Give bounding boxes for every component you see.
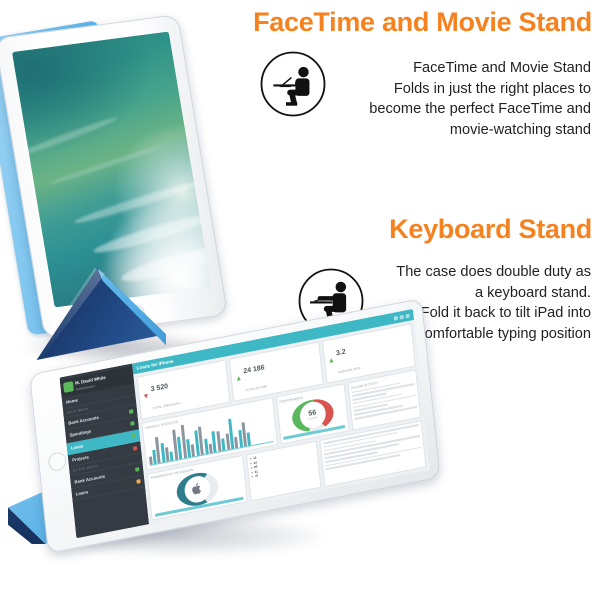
avatar — [63, 381, 74, 393]
kpi-value: 3.2 — [336, 348, 346, 357]
status-badge — [130, 421, 134, 426]
arrow-up-icon: ▲ — [328, 357, 336, 365]
product-feature-image: FaceTime and Movie Stand FaceTime and Mo… — [0, 0, 600, 600]
status-badge — [135, 467, 139, 472]
ipad-wallpaper-screen — [12, 31, 211, 307]
arrow-up-icon: ▲ — [235, 375, 243, 383]
status-badge — [136, 479, 140, 484]
kpi-label: TOTAL SPENDINGS — [153, 401, 181, 410]
kpi-label: AVERAGE RATE — [338, 365, 361, 373]
home-button — [48, 451, 68, 472]
feature-title-facetime: FaceTime and Movie Stand — [253, 8, 592, 36]
ipad-movie-stand-photo — [0, 0, 260, 380]
feature-body-facetime: FaceTime and Movie Stand Folds in just t… — [351, 58, 591, 141]
feature-title-keyboard: Keyboard Stand — [389, 215, 592, 243]
status-badge — [133, 446, 137, 451]
kpi-label: TOTAL INCOME — [245, 384, 267, 392]
ipad-keyboard-stand-photo: M. David White Administrator Home MAIN M… — [0, 370, 470, 600]
kpi-value: 3 520 — [150, 383, 168, 393]
status-badge — [129, 409, 133, 414]
apple-logo-icon — [191, 482, 203, 497]
kpi-value: 24 186 — [243, 364, 265, 375]
folded-triangular-stand — [34, 268, 166, 360]
person-sitting-watching-tablet-icon — [258, 49, 328, 119]
topbar-actions[interactable] — [394, 313, 410, 320]
arrow-down-icon: ▼ — [142, 393, 150, 401]
status-badge — [132, 433, 136, 438]
gauge-unit: percent — [308, 417, 317, 422]
